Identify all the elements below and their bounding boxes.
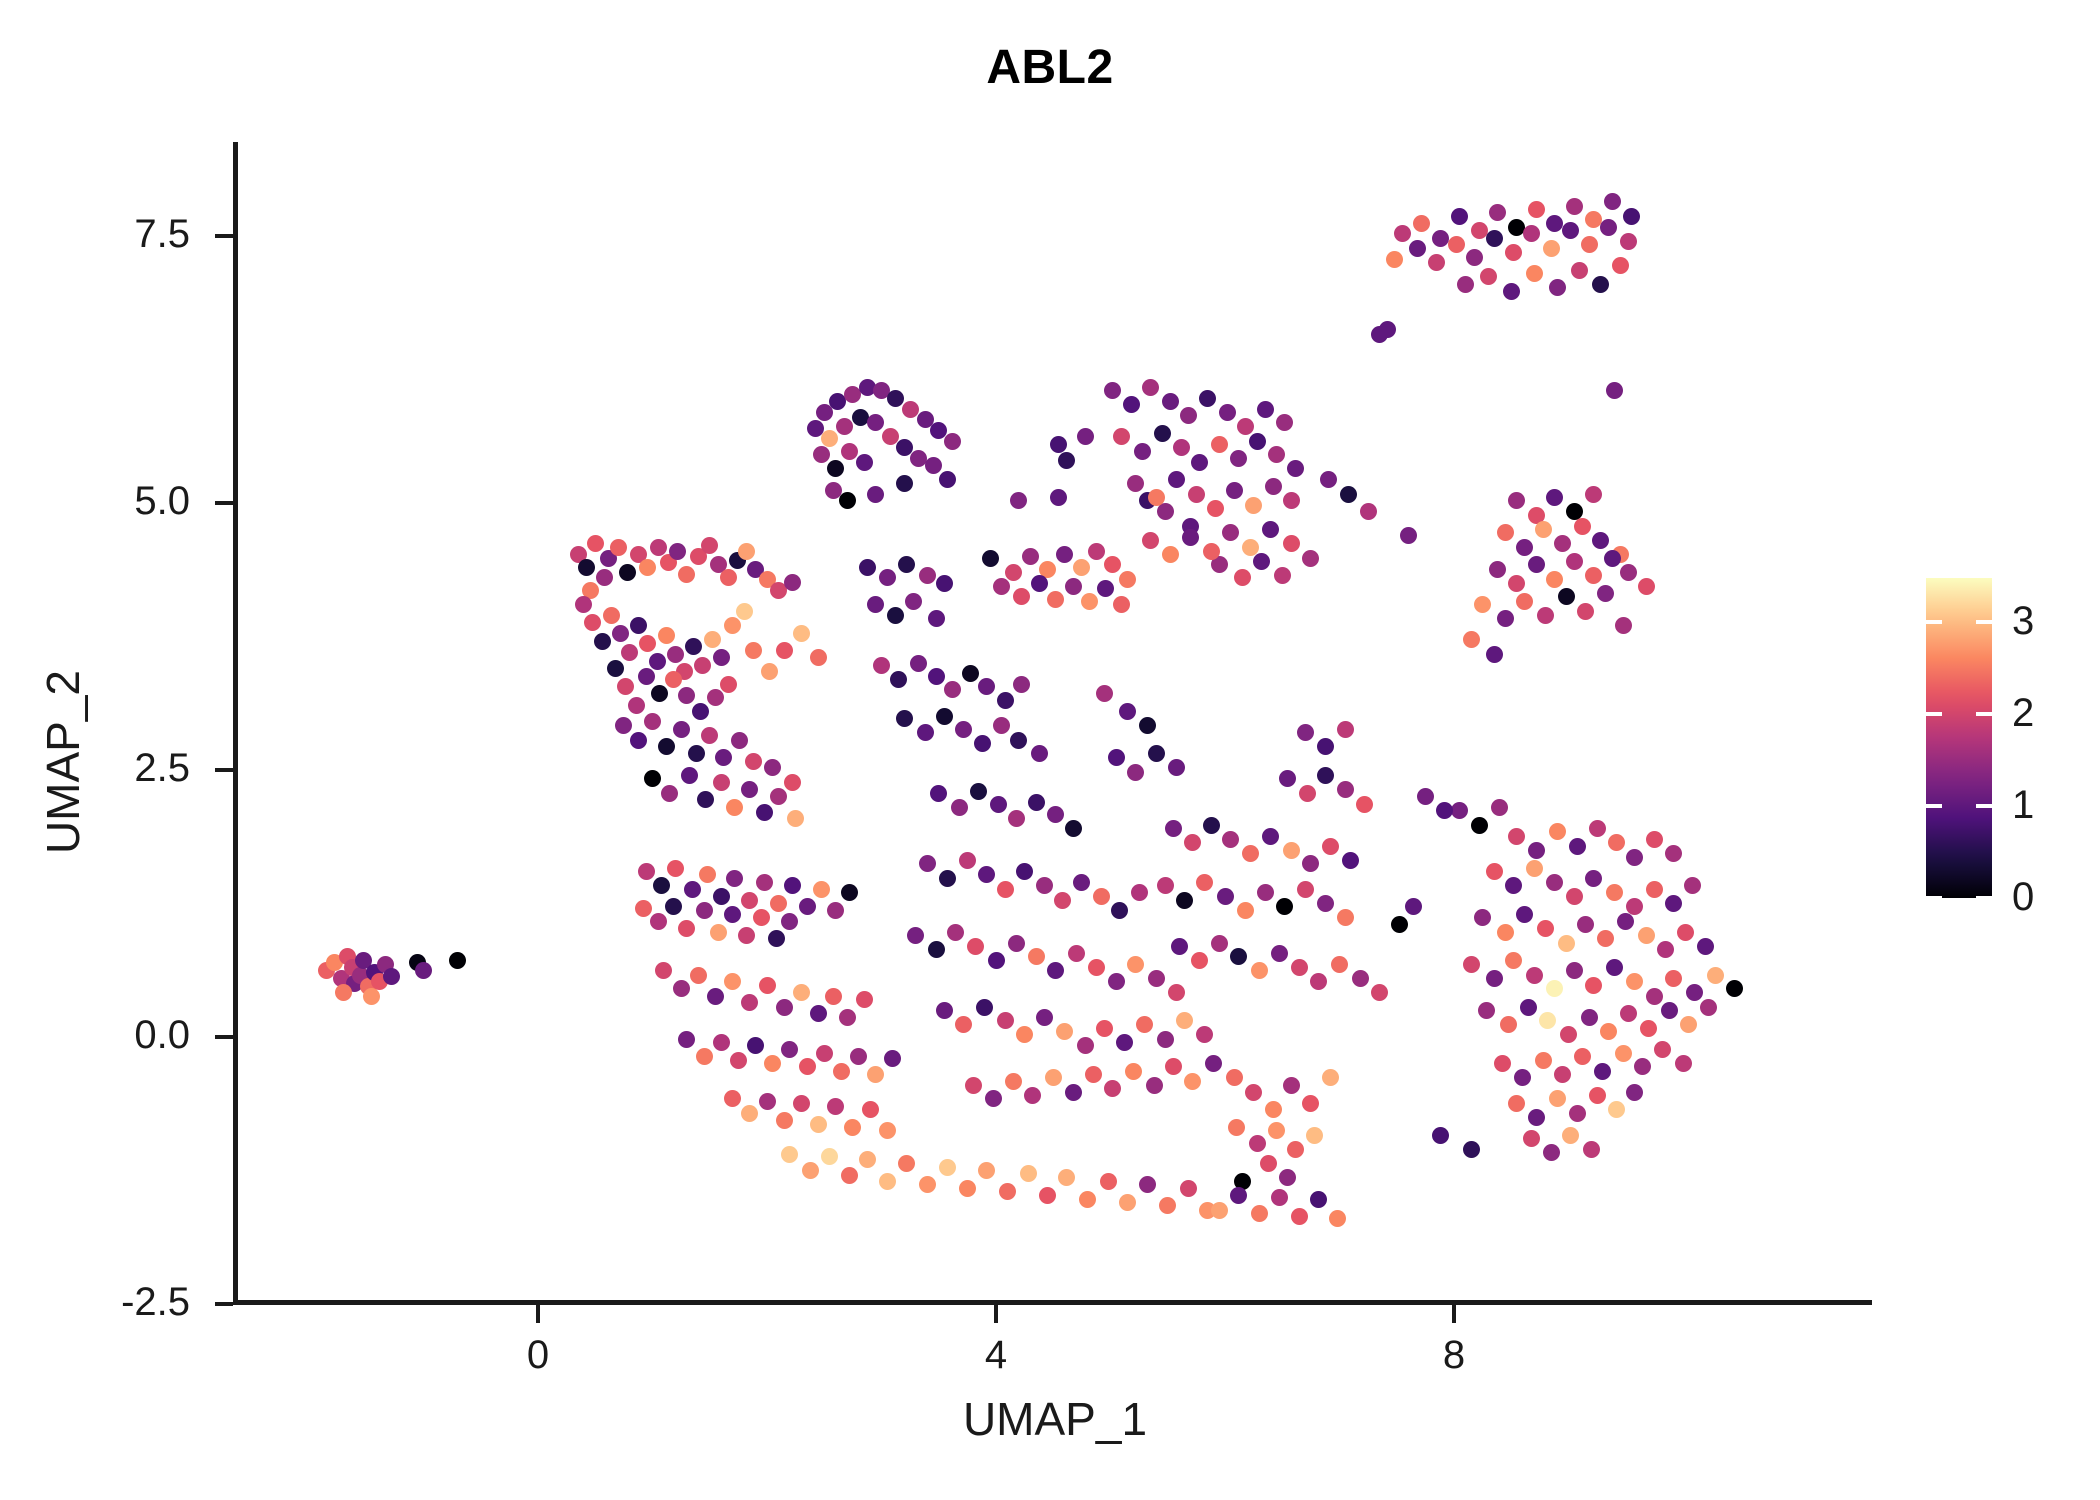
scatter-point — [1148, 745, 1165, 762]
x-tick-mark — [536, 1305, 540, 1323]
scatter-point — [1707, 967, 1724, 984]
scatter-point — [1560, 1026, 1577, 1043]
scatter-point — [1451, 802, 1468, 819]
scatter-point — [1463, 956, 1480, 973]
scatter-point — [1237, 902, 1254, 919]
scatter-point — [1646, 831, 1663, 848]
scatter-point — [1526, 265, 1543, 282]
scatter-point — [1489, 204, 1506, 221]
scatter-point — [1623, 208, 1640, 225]
scatter-point — [1008, 810, 1025, 827]
scatter-point — [867, 596, 884, 613]
scatter-point — [661, 785, 678, 802]
scatter-point — [839, 492, 856, 509]
scatter-point — [741, 994, 758, 1011]
scatter-point — [1217, 888, 1234, 905]
scatter-point — [1073, 559, 1090, 576]
scatter-point — [1182, 529, 1199, 546]
scatter-point — [1222, 524, 1239, 541]
x-tick-label: 8 — [1374, 1335, 1534, 1375]
scatter-point — [1162, 393, 1179, 410]
scatter-point — [1554, 535, 1571, 552]
scatter-point — [1131, 884, 1148, 901]
scatter-point — [928, 610, 945, 627]
scatter-point — [1620, 564, 1637, 581]
scatter-point — [944, 433, 961, 450]
scatter-point — [825, 988, 842, 1005]
scatter-point — [731, 732, 748, 749]
scatter-point — [710, 924, 727, 941]
scatter-point — [1159, 1197, 1176, 1214]
scatter-point — [810, 1005, 827, 1022]
scatter-point — [1073, 874, 1090, 891]
scatter-point — [1606, 884, 1623, 901]
scatter-point — [1428, 254, 1445, 271]
scatter-point — [745, 642, 762, 659]
scatter-point — [713, 888, 730, 905]
scatter-point — [635, 900, 652, 917]
scatter-point — [1457, 276, 1474, 293]
scatter-point — [756, 874, 773, 891]
scatter-point — [1577, 916, 1594, 933]
scatter-point — [1283, 1077, 1300, 1094]
scatter-point — [1165, 1058, 1182, 1075]
scatter-point — [1265, 1101, 1282, 1118]
scatter-point — [884, 1050, 901, 1067]
scatter-point — [1134, 443, 1151, 460]
scatter-point — [1116, 1034, 1133, 1051]
scatter-point — [1279, 770, 1296, 787]
scatter-point — [1583, 1141, 1600, 1158]
scatter-point — [1111, 902, 1128, 919]
scatter-point — [1262, 521, 1279, 538]
scatter-point — [658, 738, 675, 755]
scatter-point — [1207, 500, 1224, 517]
scatter-point — [1680, 1016, 1697, 1033]
scatter-point — [747, 1037, 764, 1054]
scatter-point — [1274, 567, 1291, 584]
scatter-point — [1549, 1090, 1566, 1107]
scatter-point — [1297, 724, 1314, 741]
scatter-point — [1081, 593, 1098, 610]
scatter-point — [594, 633, 611, 650]
scatter-point — [644, 770, 661, 787]
scatter-point — [1088, 543, 1105, 560]
scatter-point — [1626, 973, 1643, 990]
scatter-point — [810, 649, 827, 666]
scatter-point — [841, 884, 858, 901]
scatter-point — [873, 657, 890, 674]
colorbar-tick-label: 0 — [2012, 877, 2082, 917]
x-tick-mark — [1452, 1305, 1456, 1323]
scatter-point — [667, 646, 684, 663]
scatter-point — [1486, 646, 1503, 663]
scatter-point — [1108, 749, 1125, 766]
scatter-point — [1088, 959, 1105, 976]
scatter-point — [1005, 1073, 1022, 1090]
scatter-point — [1146, 1077, 1163, 1094]
scatter-point — [1638, 578, 1655, 595]
scatter-point — [827, 902, 844, 919]
scatter-point — [1523, 1130, 1540, 1147]
scatter-point — [1139, 1176, 1156, 1193]
scatter-point — [1119, 1194, 1136, 1211]
scatter-point — [787, 810, 804, 827]
scatter-point — [802, 1162, 819, 1179]
x-tick-label: 4 — [916, 1335, 1076, 1375]
scatter-point — [678, 566, 695, 583]
scatter-point — [724, 906, 741, 923]
scatter-point — [596, 569, 613, 586]
y-axis-line — [233, 142, 238, 1305]
scatter-point — [630, 617, 647, 634]
scatter-point — [1065, 820, 1082, 837]
scatter-point — [974, 735, 991, 752]
scatter-point — [694, 657, 711, 674]
scatter-point — [1010, 732, 1027, 749]
scatter-point — [1168, 759, 1185, 776]
scatter-point — [713, 1034, 730, 1051]
scatter-point — [1371, 984, 1388, 1001]
scatter-point — [841, 1167, 858, 1184]
scatter-point — [1600, 219, 1617, 236]
scatter-point — [1340, 486, 1357, 503]
scatter-point — [759, 977, 776, 994]
scatter-point — [1677, 924, 1694, 941]
scatter-point — [1104, 1080, 1121, 1097]
scatter-point — [1589, 820, 1606, 837]
scatter-point — [1157, 1031, 1174, 1048]
scatter-point — [1157, 503, 1174, 520]
color-legend: 3210 — [1926, 578, 2086, 898]
scatter-point — [617, 678, 634, 695]
scatter-point — [1302, 855, 1319, 872]
scatter-point — [764, 1055, 781, 1072]
scatter-point — [1494, 1055, 1511, 1072]
x-tick-mark — [994, 1305, 998, 1323]
scatter-point — [696, 902, 713, 919]
scatter-point — [1205, 1055, 1222, 1072]
scatter-point — [898, 1155, 915, 1172]
colorbar-tick-label: 3 — [2012, 601, 2082, 641]
plot-panel — [237, 142, 1872, 1302]
y-tick-mark — [215, 768, 233, 772]
scatter-point — [1554, 1066, 1571, 1083]
scatter-point — [1100, 1173, 1117, 1190]
scatter-point — [1245, 1084, 1262, 1101]
scatter-point — [982, 550, 999, 567]
scatter-point — [879, 1122, 896, 1139]
scatter-point — [1226, 1069, 1243, 1086]
scatter-point — [1211, 436, 1228, 453]
scatter-point — [1646, 988, 1663, 1005]
scatter-point — [1391, 916, 1408, 933]
scatter-point — [415, 962, 432, 979]
scatter-point — [1242, 845, 1259, 862]
colorbar-tick-mark — [1926, 804, 1992, 808]
scatter-point — [1317, 738, 1334, 755]
scatter-point — [1371, 326, 1388, 343]
scatter-point — [1558, 588, 1575, 605]
scatter-point — [827, 460, 844, 477]
x-axis-title: UMAP_1 — [255, 1392, 1855, 1446]
scatter-point — [939, 471, 956, 488]
scatter-point — [1242, 539, 1259, 556]
scatter-point — [1604, 550, 1621, 567]
scatter-point — [821, 1148, 838, 1165]
scatter-point — [1520, 999, 1537, 1016]
scatter-point — [667, 860, 684, 877]
scatter-point — [1148, 970, 1165, 987]
scatter-point — [813, 446, 830, 463]
colorbar-tick-label: 2 — [2012, 693, 2082, 733]
scatter-point — [1497, 610, 1514, 627]
scatter-point — [1646, 881, 1663, 898]
scatter-point — [1549, 823, 1566, 840]
scatter-point — [1508, 492, 1525, 509]
scatter-point — [1478, 1002, 1495, 1019]
scatter-point — [965, 1077, 982, 1094]
y-tick-label: 7.5 — [40, 214, 190, 254]
scatter-point — [1726, 980, 1743, 997]
scatter-point — [887, 607, 904, 624]
scatter-point — [988, 952, 1005, 969]
scatter-point — [1528, 842, 1545, 859]
scatter-point — [1615, 617, 1632, 634]
scatter-point — [1199, 390, 1216, 407]
scatter-point — [1356, 796, 1373, 813]
scatter-point — [936, 708, 953, 725]
scatter-point — [896, 710, 913, 727]
scatter-point — [684, 881, 701, 898]
scatter-point — [615, 717, 632, 734]
scatter-point — [928, 941, 945, 958]
scatter-point — [673, 980, 690, 997]
scatter-point — [630, 732, 647, 749]
scatter-point — [653, 877, 670, 894]
scatter-point — [1142, 379, 1159, 396]
scatter-point — [655, 962, 672, 979]
scatter-point — [1451, 208, 1468, 225]
scatter-point — [1016, 863, 1033, 880]
scatter-point — [1597, 585, 1614, 602]
scatter-point — [905, 593, 922, 610]
scatter-point — [1028, 794, 1045, 811]
scatter-point — [1058, 452, 1075, 469]
scatter-point — [936, 575, 953, 592]
scatter-point — [919, 855, 936, 872]
scatter-point — [1562, 222, 1579, 239]
scatter-point — [1119, 571, 1136, 588]
scatter-point — [1526, 967, 1543, 984]
scatter-point — [1574, 1048, 1591, 1065]
scatter-point — [1620, 1005, 1637, 1022]
scatter-point — [1514, 1069, 1531, 1086]
scatter-point — [856, 454, 873, 471]
scatter-point — [756, 804, 773, 821]
scatter-point — [701, 727, 718, 744]
scatter-point — [1400, 527, 1417, 544]
scatter-point — [1360, 503, 1377, 520]
scatter-point — [1219, 404, 1236, 421]
scatter-point — [776, 1112, 793, 1129]
scatter-point — [793, 984, 810, 1001]
scatter-point — [578, 559, 595, 576]
scatter-point — [887, 390, 904, 407]
scatter-point — [1096, 1020, 1113, 1037]
scatter-point — [1592, 532, 1609, 549]
scatter-point — [1486, 230, 1503, 247]
page-title: ABL2 — [0, 40, 2100, 95]
scatter-point — [862, 1101, 879, 1118]
scatter-point — [1142, 532, 1159, 549]
scatter-point — [1634, 1058, 1651, 1075]
scatter-point — [841, 443, 858, 460]
scatter-point — [1068, 945, 1085, 962]
scatter-point — [1317, 767, 1334, 784]
scatter-point — [1123, 396, 1140, 413]
scatter-point — [867, 1066, 884, 1083]
scatter-point — [1162, 546, 1179, 563]
scatter-point — [1626, 898, 1643, 915]
scatter-point — [810, 1116, 827, 1133]
scatter-point — [1265, 478, 1282, 495]
scatter-point — [1065, 578, 1082, 595]
scatter-point — [781, 1041, 798, 1058]
scatter-point — [1665, 845, 1682, 862]
scatter-point — [1173, 439, 1190, 456]
scatter-point — [1283, 535, 1300, 552]
scatter-point — [1569, 1105, 1586, 1122]
scatter-point — [990, 796, 1007, 813]
scatter-point — [1176, 892, 1193, 909]
scatter-point — [1608, 1101, 1625, 1118]
scatter-point — [1306, 1127, 1323, 1144]
scatter-point — [1615, 1045, 1632, 1062]
scatter-point — [1125, 1063, 1142, 1080]
scatter-point — [1203, 543, 1220, 560]
scatter-point — [1196, 874, 1213, 891]
scatter-point — [707, 689, 724, 706]
scatter-point — [1585, 977, 1602, 994]
scatter-point — [1549, 279, 1566, 296]
scatter-point — [720, 676, 737, 693]
scatter-point — [1008, 935, 1025, 952]
scatter-point — [761, 663, 778, 680]
scatter-point — [776, 999, 793, 1016]
scatter-point — [1546, 489, 1563, 506]
scatter-point — [724, 617, 741, 634]
scatter-point — [741, 1105, 758, 1122]
scatter-point — [1566, 198, 1583, 215]
scatter-point — [776, 642, 793, 659]
scatter-point — [1024, 1087, 1041, 1104]
scatter-point — [1113, 596, 1130, 613]
scatter-point — [1013, 676, 1030, 693]
scatter-point — [1528, 201, 1545, 218]
scatter-point — [704, 631, 721, 648]
scatter-point — [947, 924, 964, 941]
scatter-point — [1581, 236, 1598, 253]
scatter-point — [1508, 828, 1525, 845]
scatter-point — [928, 668, 945, 685]
scatter-point — [1165, 820, 1182, 837]
scatter-point — [1665, 895, 1682, 912]
scatter-point — [1287, 1141, 1304, 1158]
scatter-point — [1228, 1119, 1245, 1136]
scatter-point — [1157, 877, 1174, 894]
scatter-point — [726, 870, 743, 887]
scatter-point — [1463, 1141, 1480, 1158]
scatter-point — [1322, 1069, 1339, 1086]
scatter-point — [638, 863, 655, 880]
scatter-point — [603, 607, 620, 624]
scatter-point — [1287, 460, 1304, 477]
scatter-point — [1222, 831, 1239, 848]
scatter-point — [1047, 806, 1064, 823]
colorbar-tick-mark — [1926, 712, 1992, 716]
scatter-point — [1322, 838, 1339, 855]
scatter-point — [1700, 999, 1717, 1016]
scatter-point — [724, 973, 741, 990]
scatter-point — [449, 952, 466, 969]
scatter-point — [1594, 1063, 1611, 1080]
scatter-point — [1505, 244, 1522, 261]
scatter-point — [1136, 1016, 1153, 1033]
scatter-point — [844, 1119, 861, 1136]
scatter-point — [764, 759, 781, 776]
scatter-point — [1127, 956, 1144, 973]
scatter-point — [1031, 575, 1048, 592]
scatter-point — [1271, 945, 1288, 962]
scatter-point — [1539, 1012, 1556, 1029]
scatter-point — [1562, 1127, 1579, 1144]
scatter-point — [1020, 1165, 1037, 1182]
scatter-point — [959, 1180, 976, 1197]
scatter-point — [930, 785, 947, 802]
scatter-point — [575, 596, 592, 613]
colorbar-tick-mark — [1926, 896, 1992, 900]
scatter-point — [619, 564, 636, 581]
scatter-point — [970, 783, 987, 800]
scatter-point — [1585, 567, 1602, 584]
scatter-point — [1299, 785, 1316, 802]
scatter-point — [1612, 257, 1629, 274]
scatter-point — [1432, 230, 1449, 247]
scatter-point — [1127, 764, 1144, 781]
scatter-point — [1176, 1012, 1193, 1029]
scatter-point — [738, 543, 755, 560]
scatter-point — [1113, 428, 1130, 445]
scatter-point — [1474, 909, 1491, 926]
scatter-point — [925, 457, 942, 474]
scatter-point — [1329, 1210, 1346, 1227]
scatter-point — [955, 721, 972, 738]
scatter-point — [936, 1002, 953, 1019]
scatter-point — [383, 968, 400, 985]
scatter-point — [833, 1063, 850, 1080]
scatter-point — [1413, 215, 1430, 232]
scatter-point — [993, 578, 1010, 595]
scatter-point — [1537, 920, 1554, 937]
scatter-point — [1516, 906, 1533, 923]
scatter-point — [1283, 492, 1300, 509]
scatter-point — [907, 927, 924, 944]
scatter-point — [651, 685, 668, 702]
scatter-point — [1047, 962, 1064, 979]
scatter-point — [1684, 877, 1701, 894]
scatter-point — [1516, 539, 1533, 556]
